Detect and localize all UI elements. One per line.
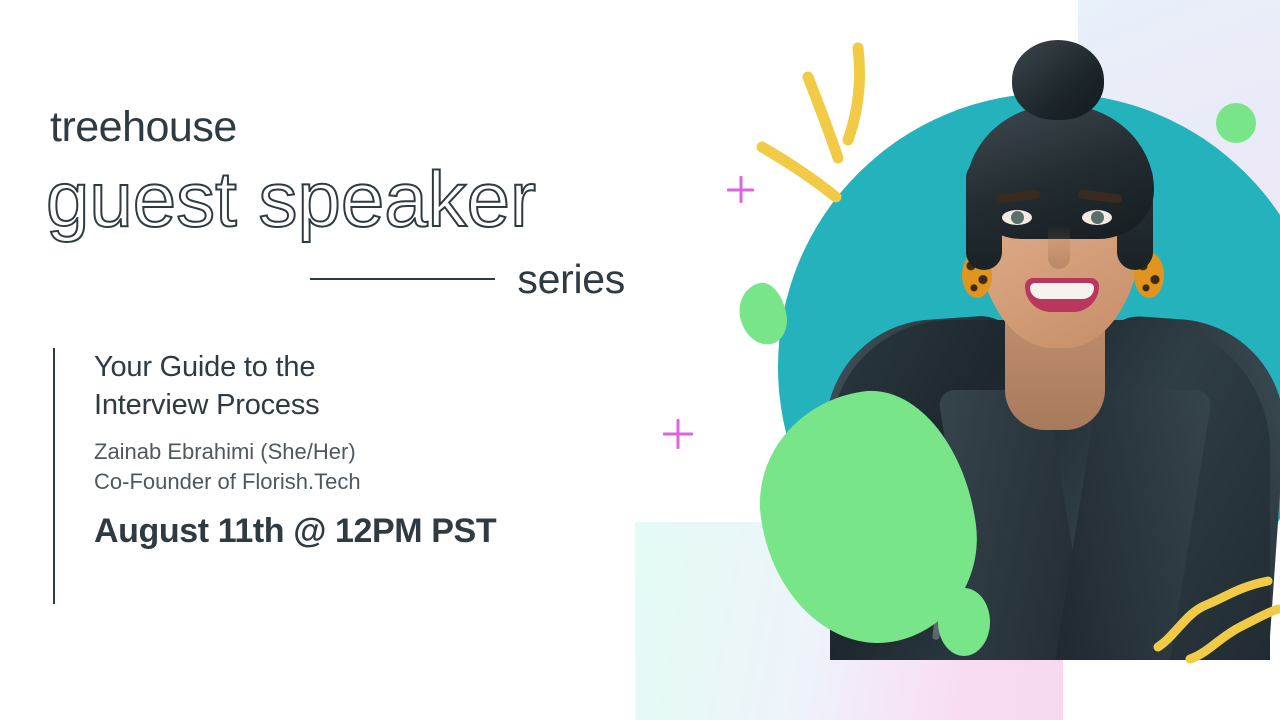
eye-right [1082,210,1112,225]
green-blob-bottom [938,588,990,656]
teeth [1030,283,1094,299]
event-details-block: Your Guide to the Interview Process Zain… [53,348,496,604]
plus-mark-top [727,176,754,203]
hair-top-bun [1012,40,1104,120]
eye-left [1002,210,1032,225]
green-dot-top-right [1216,103,1256,143]
series-divider-rule [310,278,495,280]
talk-title: Your Guide to the Interview Process [94,348,496,425]
guest-speaker-poster: treehouse guest speaker series Your Guid… [0,0,1280,720]
smiling-mouth [1025,278,1099,312]
nose [1048,225,1070,269]
iris-left [1011,211,1024,224]
content-column: treehouse guest speaker series Your Guid… [0,0,700,720]
brand-wordmark: treehouse [50,106,237,149]
headline-guest-speaker: guest speaker [46,160,536,238]
speaker-role: Co-Founder of Florish.Tech [94,468,496,497]
series-row: series [310,255,625,303]
series-label: series [517,259,625,300]
event-datetime: August 11th @ 12PM PST [94,513,496,550]
iris-right [1091,211,1104,224]
speaker-name: Zainab Ebrahimi (She/Her) [94,438,496,467]
hair-crown [966,104,1154,239]
